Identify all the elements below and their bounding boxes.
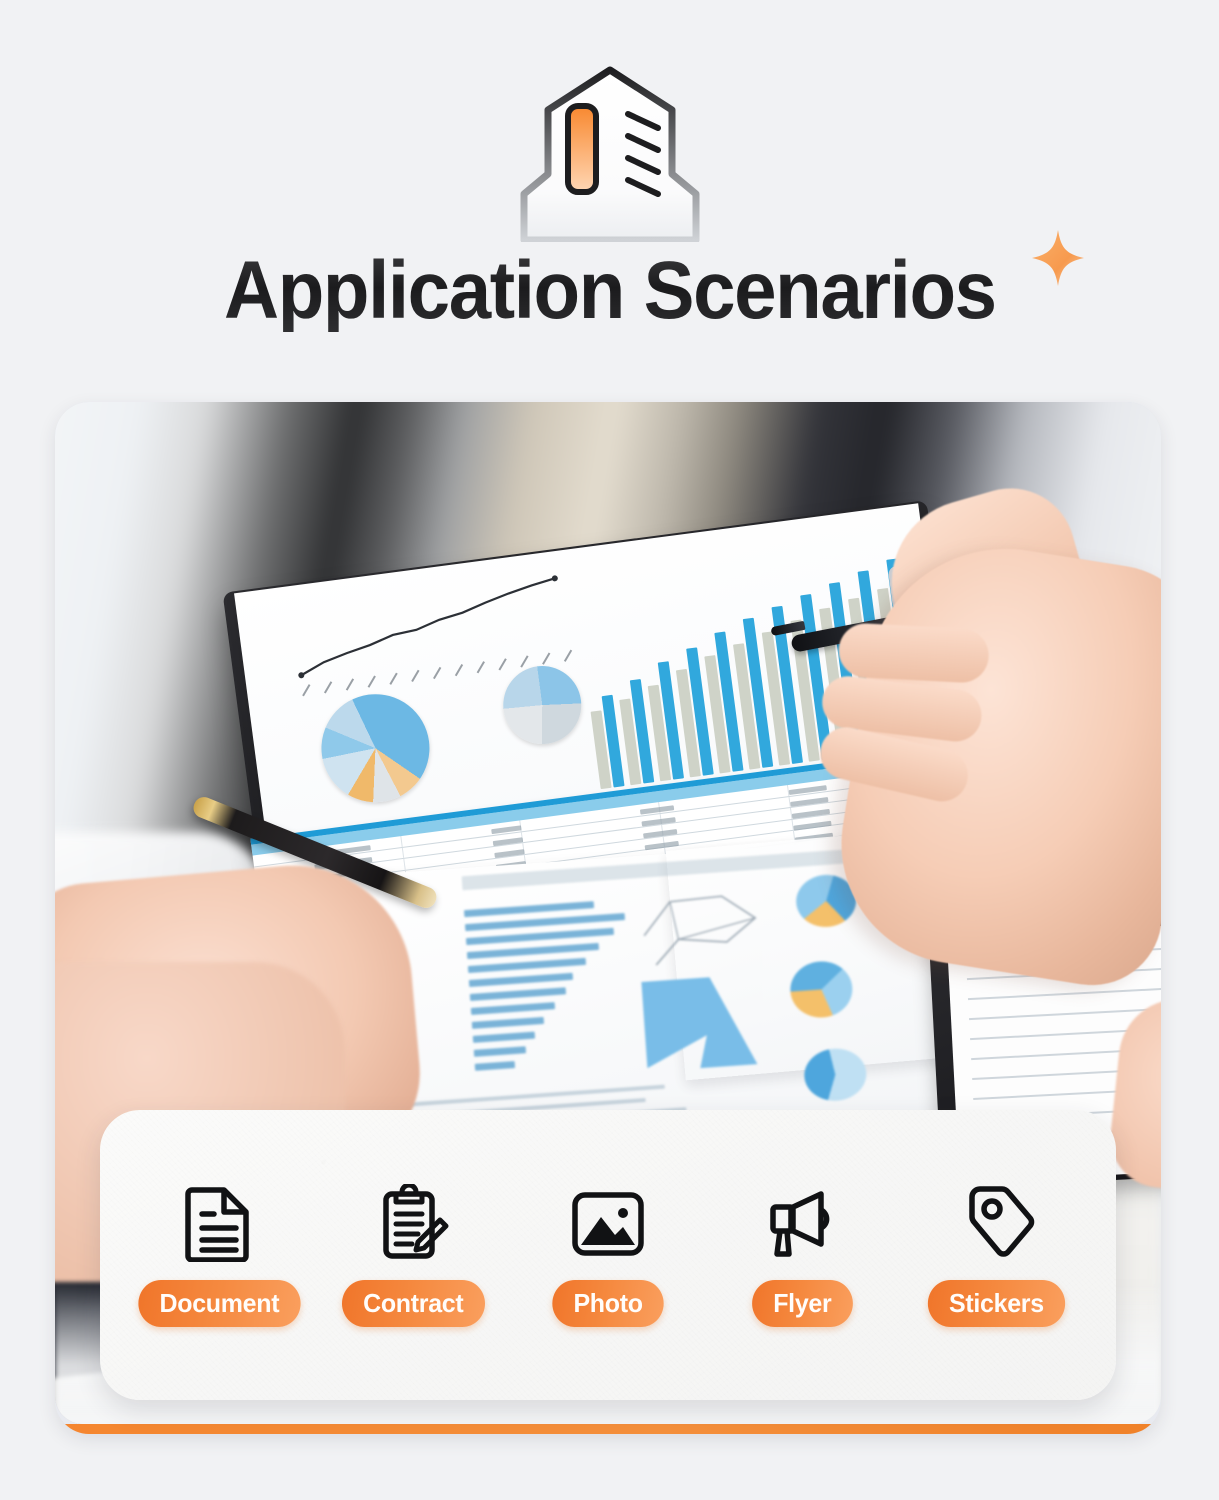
page-title: Application Scenarios bbox=[224, 250, 996, 332]
network-diagram bbox=[635, 887, 770, 976]
category-item-stickers[interactable]: Stickers bbox=[908, 1184, 1086, 1327]
accent-underline bbox=[55, 1424, 1161, 1434]
tag-icon bbox=[958, 1184, 1036, 1262]
sparkle-icon bbox=[1030, 228, 1086, 288]
category-label-document[interactable]: Document bbox=[138, 1280, 300, 1327]
logo-wrapper bbox=[0, 62, 1219, 242]
document-icon bbox=[184, 1184, 254, 1262]
category-row: Document Contract bbox=[100, 1110, 1116, 1400]
mini-pie-3 bbox=[803, 1047, 868, 1103]
category-label-flyer[interactable]: Flyer bbox=[752, 1280, 852, 1327]
cone-chart bbox=[641, 974, 757, 1071]
pie-chart-2 bbox=[499, 661, 587, 749]
category-item-document[interactable]: Document bbox=[130, 1184, 308, 1327]
clipboard-pencil-icon bbox=[378, 1184, 450, 1262]
category-item-photo[interactable]: Photo bbox=[519, 1184, 697, 1327]
category-card: Document Contract bbox=[100, 1110, 1116, 1400]
page-header: Application Scenarios bbox=[0, 0, 1219, 392]
pie-chart-1 bbox=[315, 688, 436, 809]
category-label-contract[interactable]: Contract bbox=[342, 1280, 485, 1327]
category-item-contract[interactable]: Contract bbox=[325, 1184, 503, 1327]
category-item-flyer[interactable]: Flyer bbox=[713, 1184, 891, 1327]
megaphone-icon bbox=[761, 1184, 843, 1262]
category-label-photo[interactable]: Photo bbox=[552, 1280, 664, 1327]
image-icon bbox=[569, 1184, 647, 1262]
mini-pie-2 bbox=[788, 959, 854, 1019]
building-skyscraper-icon bbox=[500, 62, 720, 242]
category-label-stickers[interactable]: Stickers bbox=[928, 1280, 1065, 1327]
